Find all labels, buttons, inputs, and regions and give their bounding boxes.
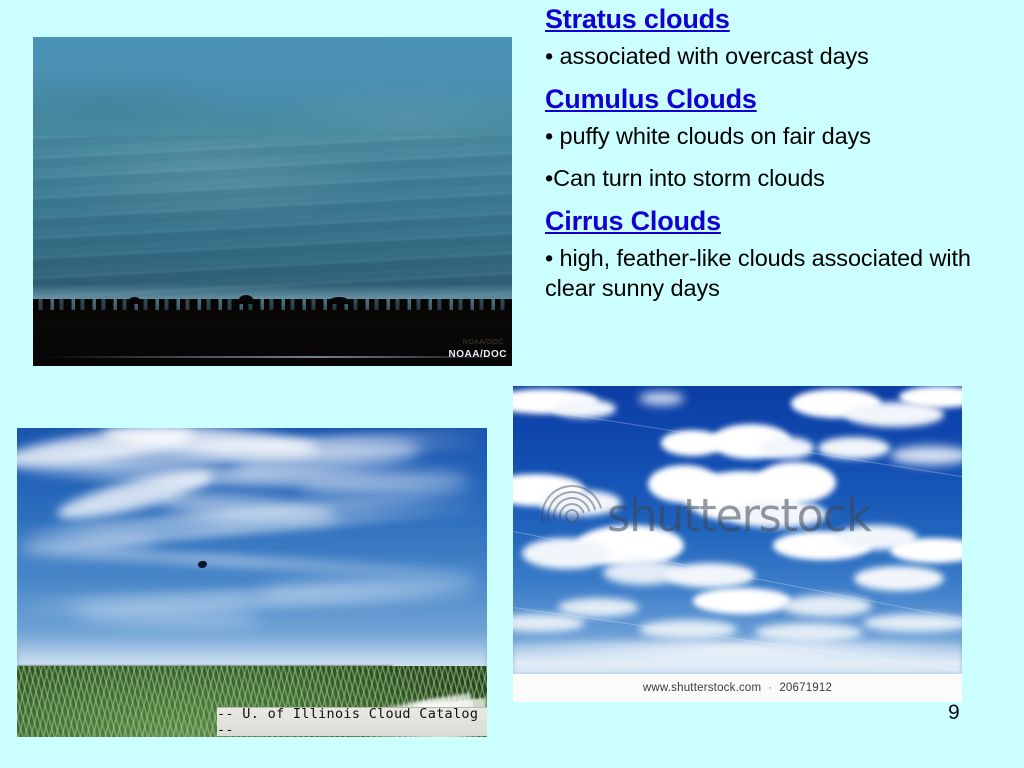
bullet-cumulus-0: • puffy white clouds on fair days	[545, 121, 1023, 151]
cumulus-cloud	[553, 399, 616, 418]
shutterstock-footer-separator: ·	[768, 682, 772, 694]
cumulus-cloud	[522, 538, 612, 570]
shutterstock-footer: www.shutterstock.com · 20671912	[513, 674, 962, 702]
stratus-tree-silhouette	[330, 297, 348, 304]
cumulus-cloud	[760, 437, 814, 459]
cumulus-cloud	[890, 446, 962, 465]
cumulus-horizon-glow	[513, 642, 962, 674]
cumulus-cloud-large	[729, 500, 828, 528]
illinois-cloud-catalog-caption: -- U. of Illinois Cloud Catalog --	[217, 707, 487, 736]
cumulus-cloud	[818, 437, 890, 459]
page-number: 9	[948, 701, 960, 725]
bullet-cumulus-1: •Can turn into storm clouds	[545, 163, 1023, 193]
cumulus-cloud-photo: shutterstock www.shutterstock.com · 2067…	[513, 386, 962, 702]
shutterstock-url: www.shutterstock.com	[643, 682, 761, 694]
cumulus-cloud-large	[755, 462, 836, 503]
stratus-road-streak	[43, 356, 503, 358]
stratus-tree-silhouette	[129, 297, 140, 304]
content-text-column: Stratus clouds • associated with overcas…	[545, 2, 1023, 303]
bullet-stratus-0: • associated with overcast days	[545, 41, 1023, 71]
cirrus-cloud-photo: -- U. of Illinois Cloud Catalog --	[17, 428, 487, 737]
shutterstock-image-id: 20671912	[779, 682, 832, 694]
slide-canvas: NOAA/DOC NOAA/DOC Stratus clouds • assoc…	[0, 0, 1024, 768]
heading-stratus-clouds: Stratus clouds	[545, 2, 1023, 36]
heading-cumulus-clouds: Cumulus Clouds	[545, 82, 1023, 116]
cumulus-cloud	[693, 588, 792, 613]
cumulus-cloud	[558, 598, 639, 617]
cumulus-cloud	[540, 490, 621, 515]
bullet-cirrus-0: • high, feather-like clouds associated w…	[545, 243, 1023, 303]
cumulus-cloud	[639, 392, 684, 405]
noaa-watermark: NOAA/DOC	[449, 349, 507, 360]
cumulus-cloud	[782, 595, 872, 617]
stratus-ghost-mark: NOAA/DOC	[463, 339, 504, 346]
stratus-tree-silhouette	[239, 295, 253, 304]
stratus-cloud-photo: NOAA/DOC NOAA/DOC	[33, 37, 512, 366]
cumulus-cloud	[639, 620, 738, 639]
heading-cirrus-clouds: Cirrus Clouds	[545, 204, 1023, 238]
